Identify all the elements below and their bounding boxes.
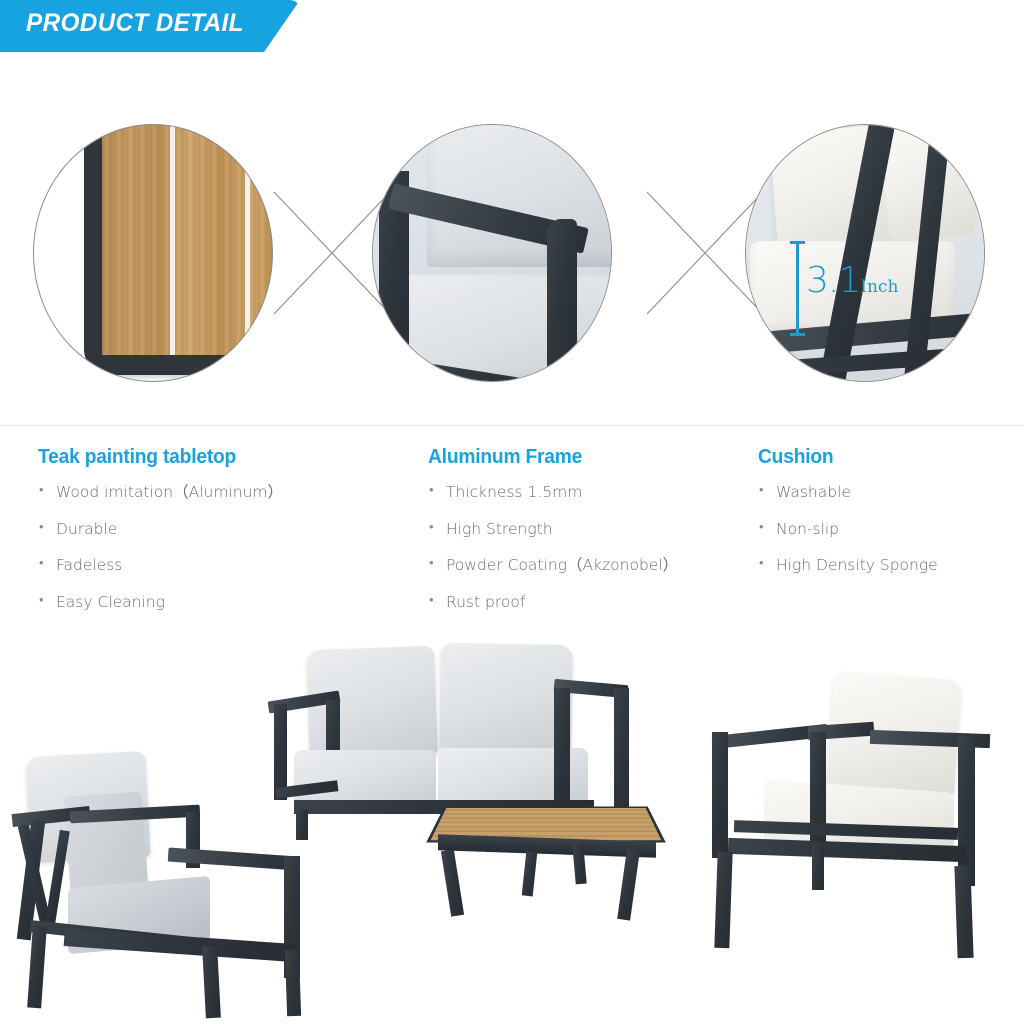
armchair-right-leg-left bbox=[714, 852, 732, 948]
product-scene-photo bbox=[0, 636, 1024, 1024]
armchair-left-leg-back-right bbox=[285, 950, 301, 1016]
feature-item: Thickness 1.5mm bbox=[428, 485, 728, 501]
coffee-table-leg-front-left bbox=[441, 849, 464, 916]
armchair-right-rear-arm-post bbox=[712, 732, 728, 858]
tabletop-frame bbox=[84, 124, 273, 375]
armchair-right-front-arm-post bbox=[958, 736, 975, 886]
loveseat-back-cushion-right bbox=[439, 643, 573, 757]
detail-circle-teak-tabletop bbox=[33, 124, 273, 382]
detail-circle-cushion-thickness: 3.1Inch bbox=[745, 124, 985, 382]
detail-circles-row: 3.1Inch bbox=[0, 96, 1024, 414]
teak-wood-surface bbox=[102, 124, 273, 355]
loveseat-right-arm-post bbox=[554, 688, 570, 810]
coffee-table bbox=[424, 794, 674, 924]
section-divider bbox=[0, 425, 1024, 426]
feature-item: Powder Coating（Akzonobel） bbox=[428, 558, 728, 574]
feature-list: Washable Non-slip High Density Sponge bbox=[758, 485, 1008, 574]
feature-column-aluminum-frame: Aluminum Frame Thickness 1.5mm High Stre… bbox=[428, 446, 728, 631]
aluminum-frame-photo bbox=[372, 124, 612, 382]
feature-item: Wood imitation（Aluminum） bbox=[38, 485, 398, 501]
dimension-arrow-icon bbox=[796, 241, 799, 336]
dimension-label: 3.1Inch bbox=[806, 263, 898, 299]
armchair-right-leg-right bbox=[954, 866, 973, 959]
cushion-thickness-photo: 3.1Inch bbox=[745, 124, 985, 382]
detail-circle-aluminum-frame bbox=[372, 124, 612, 382]
feature-heading: Cushion bbox=[758, 446, 998, 469]
coffee-table-leg-front-right bbox=[617, 849, 640, 920]
product-detail-page: PRODUCT DETAIL bbox=[0, 0, 1024, 1024]
page-title: PRODUCT DETAIL bbox=[26, 9, 244, 38]
dimension-unit: Inch bbox=[860, 277, 898, 297]
feature-list: Thickness 1.5mm High Strength Powder Coa… bbox=[428, 485, 728, 610]
armchair-left bbox=[8, 754, 338, 1016]
armchair-right-leg-rear bbox=[812, 846, 824, 890]
feature-item: High Density Sponge bbox=[758, 558, 1008, 574]
coffee-table-leg-rear-left bbox=[522, 852, 538, 897]
armchair-right bbox=[712, 676, 1002, 966]
feature-column-teak-tabletop: Teak painting tabletop Wood imitation（Al… bbox=[38, 446, 398, 631]
feature-item: Rust proof bbox=[428, 595, 728, 611]
feature-item: Fadeless bbox=[38, 558, 398, 574]
armrest-front-post bbox=[547, 219, 577, 382]
teak-tabletop-photo bbox=[33, 124, 273, 382]
feature-item: High Strength bbox=[428, 522, 728, 538]
feature-column-cushion: Cushion Washable Non-slip High Density S… bbox=[758, 446, 1008, 595]
feature-item: Easy Cleaning bbox=[38, 595, 398, 611]
header-banner: PRODUCT DETAIL bbox=[0, 0, 340, 56]
slat-gap bbox=[245, 124, 250, 355]
slat-gap bbox=[170, 124, 175, 355]
dimension-value: 3.1 bbox=[806, 260, 860, 301]
feature-item: Washable bbox=[758, 485, 1008, 501]
feature-heading: Aluminum Frame bbox=[428, 446, 716, 469]
feature-list: Wood imitation（Aluminum） Durable Fadeles… bbox=[38, 485, 398, 610]
feature-item: Durable bbox=[38, 522, 398, 538]
feature-columns: Teak painting tabletop Wood imitation（Al… bbox=[0, 446, 1024, 636]
feature-item: Non-slip bbox=[758, 522, 1008, 538]
feature-heading: Teak painting tabletop bbox=[38, 446, 384, 469]
